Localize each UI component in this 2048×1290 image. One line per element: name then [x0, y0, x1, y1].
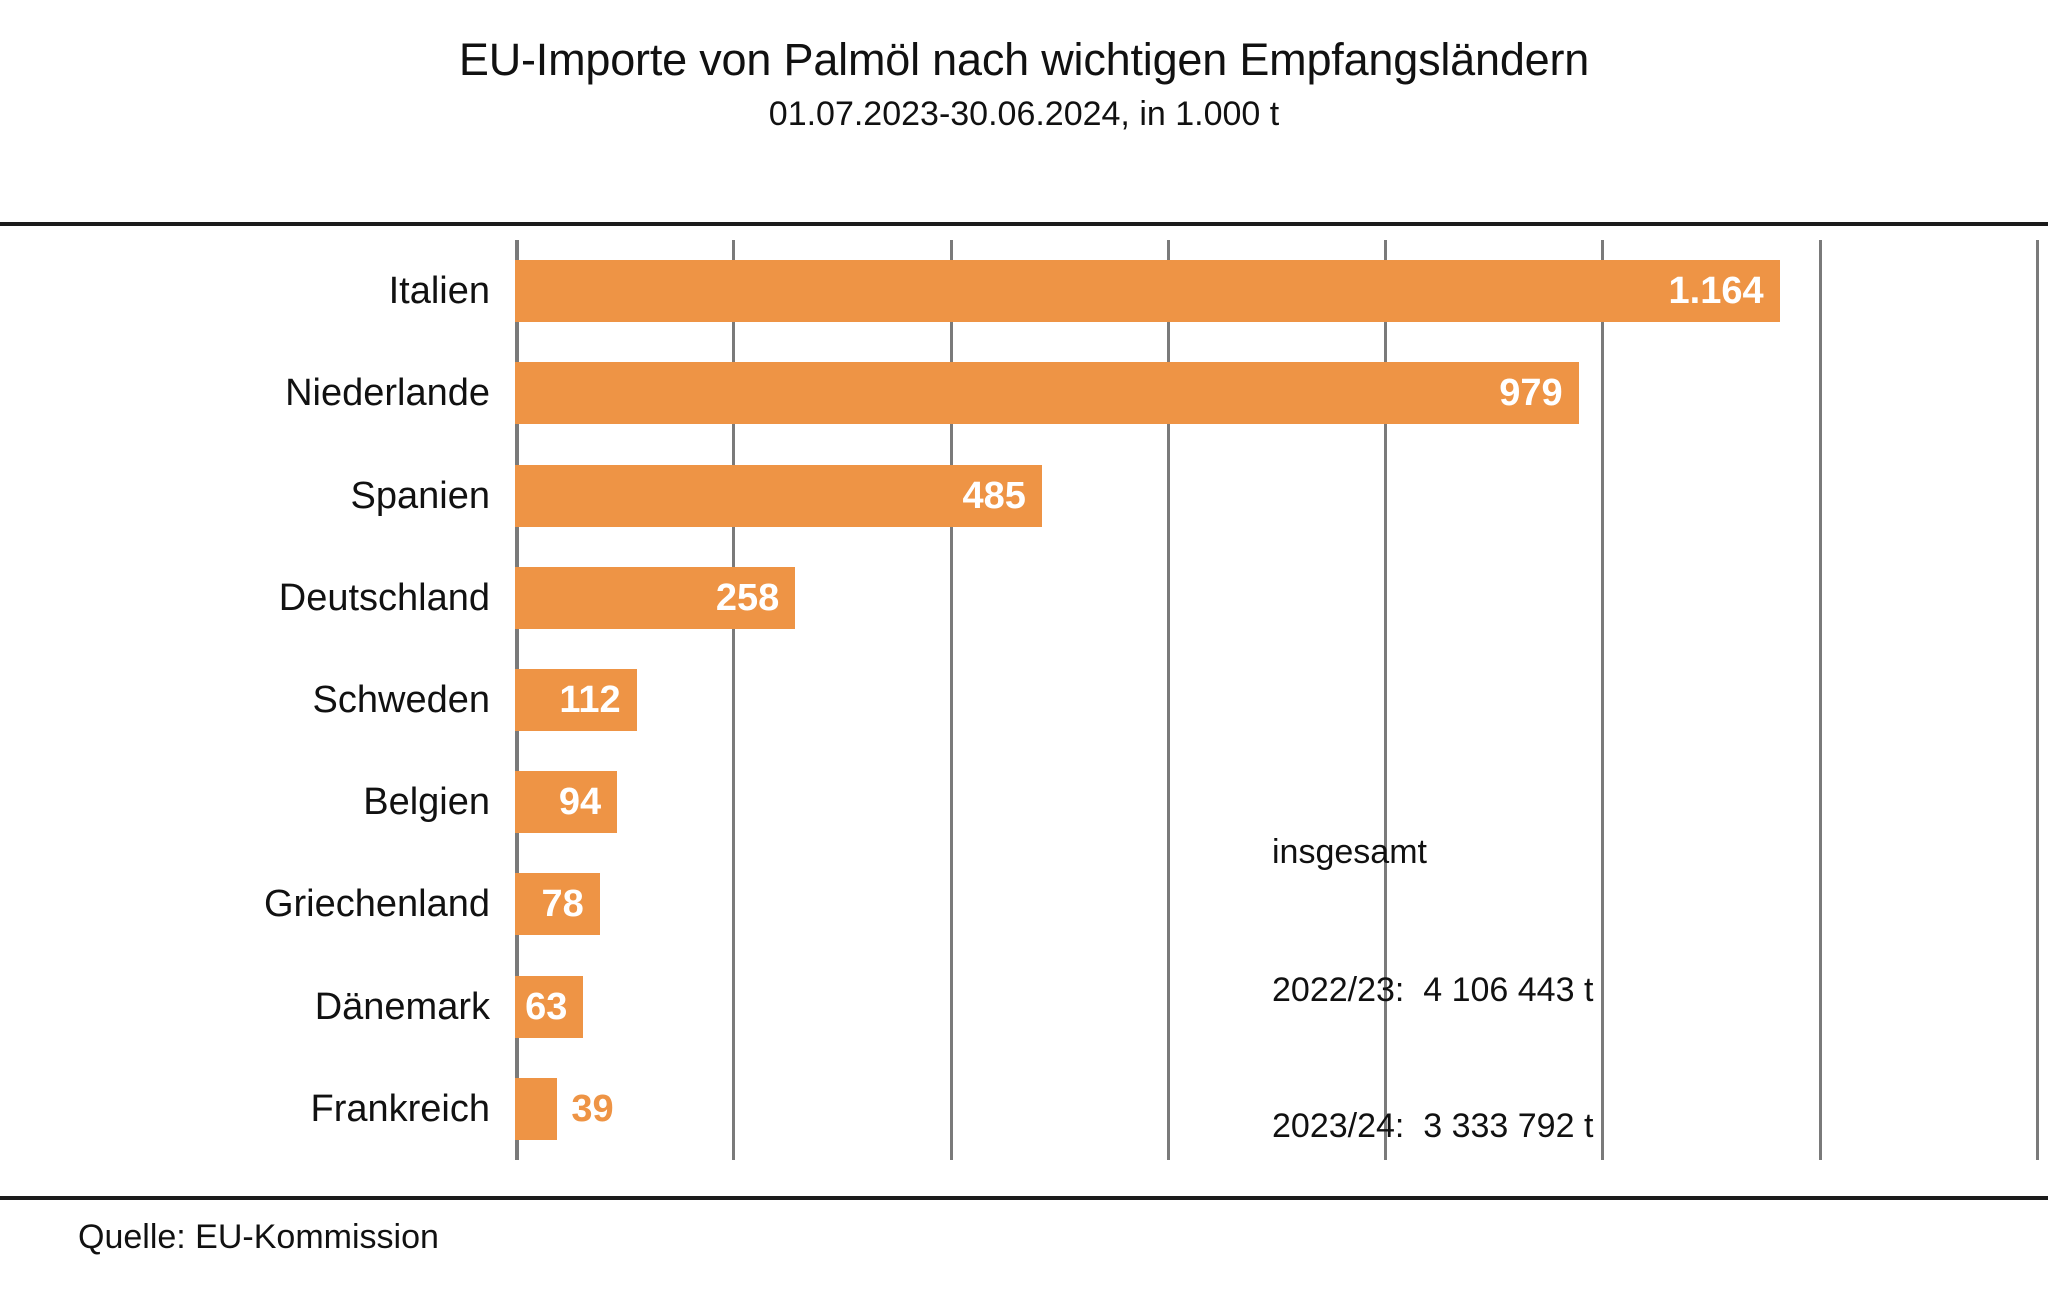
bar[interactable] [515, 1078, 557, 1140]
category-label: Belgien [10, 771, 490, 833]
category-axis: ItalienNiederlandeSpanienDeutschlandSchw… [10, 240, 490, 1160]
annotation-line-2022-23: 2022/23: 4 106 443 t [1272, 968, 1593, 1013]
title-block: EU-Importe von Palmöl nach wichtigen Emp… [0, 34, 2048, 134]
bar-row[interactable]: 485 [515, 465, 2036, 567]
total-annotation: insgesamt 2022/23: 4 106 443 t 2023/24: … [1272, 740, 1593, 1239]
bar-value-label: 78 [515, 873, 584, 935]
bar-row[interactable]: 1.164 [515, 260, 2036, 362]
divider-bottom [0, 1196, 2048, 1200]
bar-row[interactable]: 258 [515, 567, 2036, 669]
bar-value-label: 485 [515, 465, 1026, 527]
annotation-line-2023-24: 2023/24: 3 333 792 t [1272, 1104, 1593, 1149]
gridline [2036, 240, 2039, 1160]
category-label: Italien [10, 260, 490, 322]
divider-top [0, 222, 2048, 226]
category-label: Schweden [10, 669, 490, 731]
bar-value-label: 94 [515, 771, 601, 833]
bar-value-label: 1.164 [515, 260, 1764, 322]
category-label: Spanien [10, 465, 490, 527]
category-label: Niederlande [10, 362, 490, 424]
bar-value-label: 979 [515, 362, 1563, 424]
chart-page: EU-Importe von Palmöl nach wichtigen Emp… [0, 0, 2048, 1290]
category-label: Deutschland [10, 567, 490, 629]
category-label: Griechenland [10, 873, 490, 935]
bar-value-label: 258 [515, 567, 779, 629]
category-label: Frankreich [10, 1078, 490, 1140]
page-subtitle: 01.07.2023-30.06.2024, in 1.000 t [0, 95, 2048, 134]
annotation-heading: insgesamt [1272, 830, 1593, 875]
bar-value-label: 39 [571, 1078, 613, 1140]
page-title: EU-Importe von Palmöl nach wichtigen Emp… [0, 34, 2048, 86]
category-label: Dänemark [10, 976, 490, 1038]
bar-value-label: 63 [515, 976, 567, 1038]
bar-row[interactable]: 979 [515, 362, 2036, 464]
bar-value-label: 112 [515, 669, 621, 731]
source-note: Quelle: EU-Kommission [78, 1218, 439, 1257]
